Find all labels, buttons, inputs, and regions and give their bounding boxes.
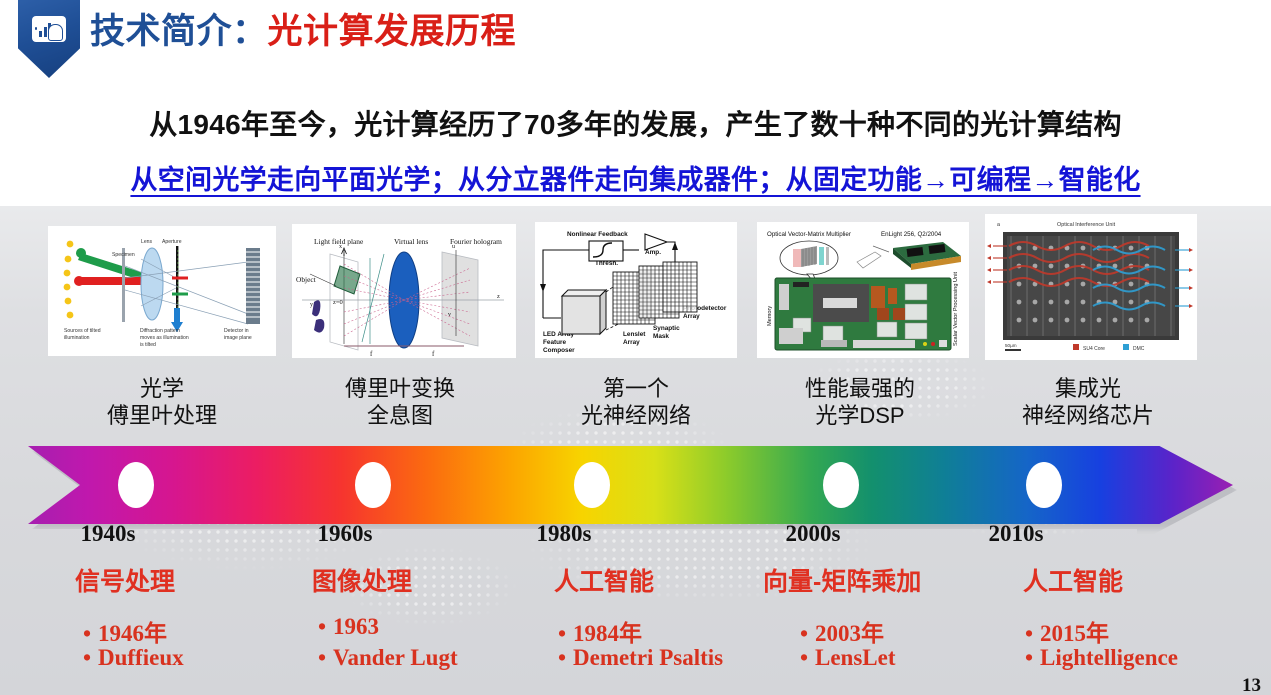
svg-text:Aperture: Aperture — [162, 239, 182, 245]
timeline-dot-2000s — [823, 462, 859, 508]
caption-3: 性能最强的 光学DSP — [760, 376, 960, 430]
timeline-dot-1940s — [118, 462, 154, 508]
svg-text:Array: Array — [683, 313, 700, 320]
column-1-item-1: •Vander Lugt — [318, 645, 458, 671]
enlight-optical-dsp-svg: Optical Vector-Matrix Multiplier EnLight… — [757, 222, 969, 358]
svg-text:Lenslet: Lenslet — [623, 331, 646, 338]
svg-text:Sources of tilted: Sources of tilted — [64, 328, 101, 334]
decade-label-2010s: 2010s — [956, 521, 1076, 547]
column-4-heading: 人工智能 — [1023, 562, 1123, 598]
caption-2-line1: 第一个 — [536, 376, 736, 403]
caption-1-line1: 傅里叶变换 — [300, 376, 500, 403]
title-prefix: 技术简介： — [90, 12, 268, 51]
svg-text:image plane: image plane — [224, 335, 252, 341]
svg-text:Nonlinear Feedback: Nonlinear Feedback — [567, 231, 628, 238]
timeline-dot-2010s — [1026, 462, 1062, 508]
caption-2-line2: 光神经网络 — [536, 403, 736, 430]
tablet-icon — [32, 16, 66, 42]
svg-text:x: x — [339, 244, 342, 250]
bullet-icon: • — [1025, 621, 1040, 647]
svg-text:u: u — [452, 244, 455, 250]
svg-text:a: a — [997, 222, 1000, 228]
bullet-icon: • — [83, 621, 98, 647]
header-badge-icon — [18, 0, 80, 78]
bullet-icon: • — [318, 614, 333, 640]
svg-text:moves as illumination: moves as illumination — [140, 335, 189, 341]
svg-text:EnLight 256, Q2/2004: EnLight 256, Q2/2004 — [881, 231, 942, 238]
svg-text:DMC: DMC — [1133, 346, 1145, 352]
photonic-chip-svg: Optical Interference Unit a — [985, 214, 1197, 360]
column-2-heading: 人工智能 — [554, 562, 654, 598]
column-2-item-0: •1984年 — [558, 614, 642, 648]
column-4-item-1: •Lightelligence — [1025, 645, 1178, 671]
column-2-item-1: •Demetri Psaltis — [558, 645, 723, 671]
tablet-camera-dot — [35, 27, 38, 30]
thumbnail-optical-fourier-processing: Sources of tilted illumination Specimen … — [48, 226, 276, 356]
column-1-item-0: •1963 — [318, 614, 379, 640]
column-0-heading: 信号处理 — [75, 562, 175, 598]
svg-text:illumination: illumination — [64, 335, 90, 341]
timeline-arrow — [28, 446, 1233, 524]
svg-text:y: y — [310, 302, 313, 308]
decade-label-1940s: 1940s — [48, 521, 168, 547]
caption-0: 光学 傅里叶处理 — [62, 376, 262, 430]
decade-label-2000s: 2000s — [753, 521, 873, 547]
caption-0-line1: 光学 — [62, 376, 262, 403]
thumbnail-enlight-optical-dsp: Optical Vector-Matrix Multiplier EnLight… — [757, 222, 969, 358]
column-4-item-0: •2015年 — [1025, 614, 1109, 648]
svg-text:Composer: Composer — [543, 347, 575, 354]
svg-text:z: z — [497, 293, 500, 300]
svg-text:Memory: Memory — [767, 306, 773, 326]
svg-text:v: v — [448, 312, 451, 318]
subtitle-line-2: 从空间光学走向平面光学；从分立器件走向集成器件；从固定功能→可编程→智能化 — [0, 158, 1271, 197]
svg-text:Optical Interference Unit: Optical Interference Unit — [1057, 222, 1116, 228]
bullet-icon: • — [318, 645, 333, 671]
page-number: 13 — [1242, 675, 1261, 695]
decade-label-1980s: 1980s — [504, 521, 624, 547]
bullet-icon: • — [83, 645, 98, 671]
svg-text:Synaptic: Synaptic — [653, 325, 680, 332]
svg-text:Object: Object — [296, 275, 317, 284]
svg-text:z=0: z=0 — [333, 299, 343, 306]
svg-text:Specimen: Specimen — [112, 252, 135, 258]
svg-text:Fourier hologram: Fourier hologram — [450, 237, 502, 246]
bullet-icon: • — [558, 645, 573, 671]
svg-text:Optical Vector-Matrix Multipli: Optical Vector-Matrix Multiplier — [767, 231, 851, 238]
bullet-icon: • — [558, 621, 573, 647]
svg-text:Virtual lens: Virtual lens — [394, 237, 428, 246]
svg-text:Detector in: Detector in — [224, 328, 249, 334]
column-3-item-1: •LensLet — [800, 645, 896, 671]
bullet-icon: • — [800, 621, 815, 647]
timeline-dot-1980s — [574, 462, 610, 508]
caption-0-line2: 傅里叶处理 — [62, 403, 262, 430]
column-0-item-1: •Duffieux — [83, 645, 184, 671]
caption-1: 傅里叶变换 全息图 — [300, 376, 500, 430]
svg-text:Feature: Feature — [543, 339, 567, 346]
fourier-hologram-svg: Light field plane Virtual lens Fourier h… — [292, 224, 516, 358]
bullet-icon: • — [1025, 645, 1040, 671]
page-title: 技术简介：光计算发展历程 — [90, 14, 516, 49]
column-3-item-0: •2003年 — [800, 614, 884, 648]
bullet-icon: • — [800, 645, 815, 671]
thumbnail-photonic-neural-chip: Optical Interference Unit a — [985, 214, 1197, 360]
svg-text:is tilted: is tilted — [140, 342, 156, 348]
title-main: 光计算发展历程 — [268, 12, 517, 51]
svg-text:Amp.: Amp. — [645, 249, 661, 256]
caption-3-line2: 光学DSP — [760, 403, 960, 430]
svg-text:Lens: Lens — [141, 239, 152, 245]
svg-text:Mask: Mask — [653, 333, 669, 340]
svg-text:SU4 Core: SU4 Core — [1083, 346, 1105, 352]
caption-2: 第一个 光神经网络 — [536, 376, 736, 430]
column-3-heading: 向量-矩阵乘加 — [763, 562, 921, 598]
thumbnail-fourier-hologram: Light field plane Virtual lens Fourier h… — [292, 224, 516, 358]
column-0-item-0: •1946年 — [83, 614, 167, 648]
caption-4: 集成光 神经网络芯片 — [988, 376, 1188, 430]
caption-3-line1: 性能最强的 — [760, 376, 960, 403]
hand-tap-icon — [48, 24, 63, 41]
decade-label-1960s: 1960s — [285, 521, 405, 547]
svg-text:Diffraction pattern: Diffraction pattern — [140, 328, 180, 334]
column-1-heading: 图像处理 — [312, 562, 412, 598]
svg-text:Array: Array — [623, 339, 640, 346]
timeline-dot-1960s — [355, 462, 391, 508]
svg-text:50µm: 50µm — [1005, 343, 1017, 348]
slide-canvas: 技术简介：光计算发展历程 从1946年至今，光计算经历了70多年的发展，产生了数… — [0, 0, 1271, 695]
optical-neural-network-svg: Nonlinear Feedback Thresh. Amp. Photodet… — [535, 222, 737, 358]
subtitle-line-1: 从1946年至今，光计算经历了70多年的发展，产生了数十种不同的光计算结构 — [0, 103, 1271, 143]
svg-text:Scalar Vector Processing Unit: Scalar Vector Processing Unit — [953, 272, 959, 346]
optical-fourier-processing-svg: Sources of tilted illumination Specimen … — [48, 226, 276, 356]
thumbnail-optical-neural-network: Nonlinear Feedback Thresh. Amp. Photodet… — [535, 222, 737, 358]
caption-4-line1: 集成光 — [988, 376, 1188, 403]
caption-4-line2: 神经网络芯片 — [988, 403, 1188, 430]
caption-1-line2: 全息图 — [300, 403, 500, 430]
